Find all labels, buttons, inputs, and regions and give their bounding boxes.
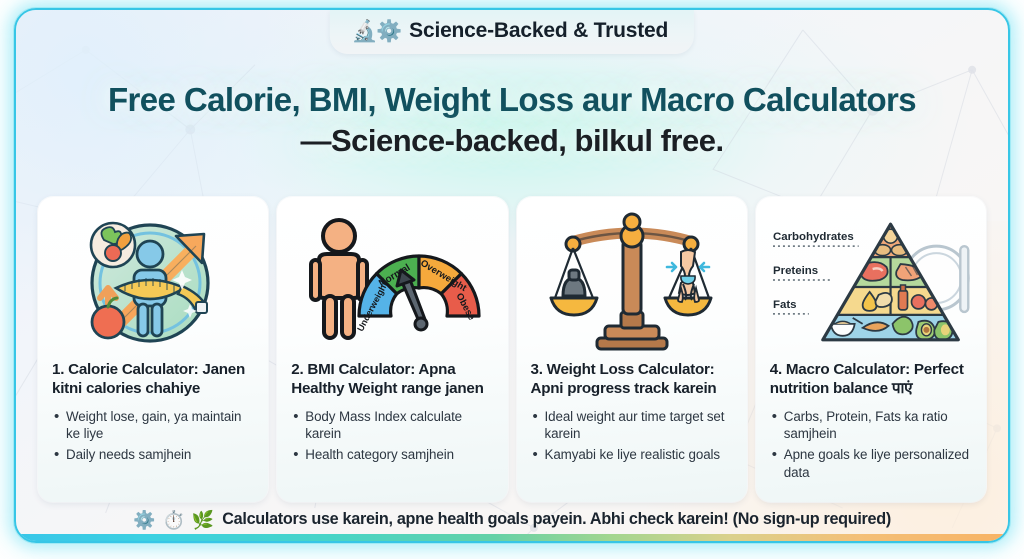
calculator-cards-row: 1. Calorie Calculator: Janen kitni calor… [38, 197, 986, 502]
poster-frame: 🔬⚙️ Science-Backed & Trusted Free Calori… [14, 8, 1010, 543]
list-item: Daily needs samjhein [66, 446, 255, 464]
card-title: 4. Macro Calculator: Perfect nutrition b… [769, 360, 973, 399]
card-title: 3. Weight Loss Calculator: Apni progress… [530, 360, 734, 399]
gear-stopwatch-seedling-icon: ⚙️ ⏱️ 🌿 [133, 511, 215, 529]
footer-call-to-action: ⚙️ ⏱️ 🌿 Calculators use karein, apne hea… [16, 510, 1008, 529]
card-title: 1. Calorie Calculator: Janen kitni calor… [51, 360, 255, 399]
list-item: Kamyabi ke liye realistic goals [545, 446, 734, 464]
page-title: Free Calorie, BMI, Weight Loss aur Macro… [16, 80, 1008, 160]
macro-food-pyramid-illustration: Carbohydrates Preteins Fats [769, 208, 973, 358]
microscope-gear-icon: 🔬⚙️ [352, 21, 400, 42]
list-item: Carbs, Protein, Fats ka ratio samjhein [784, 408, 973, 444]
infographic-poster: 🔬⚙️ Science-Backed & Trusted Free Calori… [0, 0, 1024, 559]
trust-badge: 🔬⚙️ Science-Backed & Trusted [330, 10, 694, 54]
card-bullet-list: Weight lose, gain, ya maintain ke liye D… [51, 408, 255, 467]
card-bullet-list: Body Mass Index calculate karein Health … [290, 408, 494, 467]
bmi-gauge-illustration: Underweight Normal Overweight Obese [290, 208, 494, 358]
pyramid-label-proteins: Preteins [773, 265, 818, 277]
list-item: Apne goals ke liye personalized data [784, 446, 973, 482]
card-bmi-calculator[interactable]: Underweight Normal Overweight Obese 2. B… [277, 197, 507, 502]
headline-line-1: Free Calorie, BMI, Weight Loss aur Macro… [16, 80, 1008, 120]
list-item: Body Mass Index calculate karein [305, 408, 494, 444]
list-item: Ideal weight aur time target set karein [545, 408, 734, 444]
card-title: 2. BMI Calculator: Apna Healthy Weight r… [290, 360, 494, 399]
card-bullet-list: Carbs, Protein, Fats ka ratio samjhein A… [769, 408, 973, 485]
card-weight-loss-calculator[interactable]: 3. Weight Loss Calculator: Apni progress… [517, 197, 747, 502]
calorie-calculator-illustration [51, 208, 255, 358]
card-calorie-calculator[interactable]: 1. Calorie Calculator: Janen kitni calor… [38, 197, 268, 502]
list-item: Weight lose, gain, ya maintain ke liye [66, 408, 255, 444]
bottom-accent-bar [16, 534, 1008, 541]
footer-text: Calculators use karein, apne health goal… [222, 510, 891, 529]
pyramid-label-fats: Fats [773, 299, 797, 311]
trust-badge-label: Science-Backed & Trusted [409, 19, 668, 43]
pyramid-label-carbohydrates: Carbohydrates [773, 231, 854, 243]
card-macro-calculator[interactable]: Carbohydrates Preteins Fats 4. Macro Cal… [756, 197, 986, 502]
list-item: Health category samjhein [305, 446, 494, 464]
weight-loss-balance-illustration [530, 208, 734, 358]
headline-line-2: —Science-backed, bilkul free. [16, 122, 1008, 160]
card-bullet-list: Ideal weight aur time target set karein … [530, 408, 734, 467]
